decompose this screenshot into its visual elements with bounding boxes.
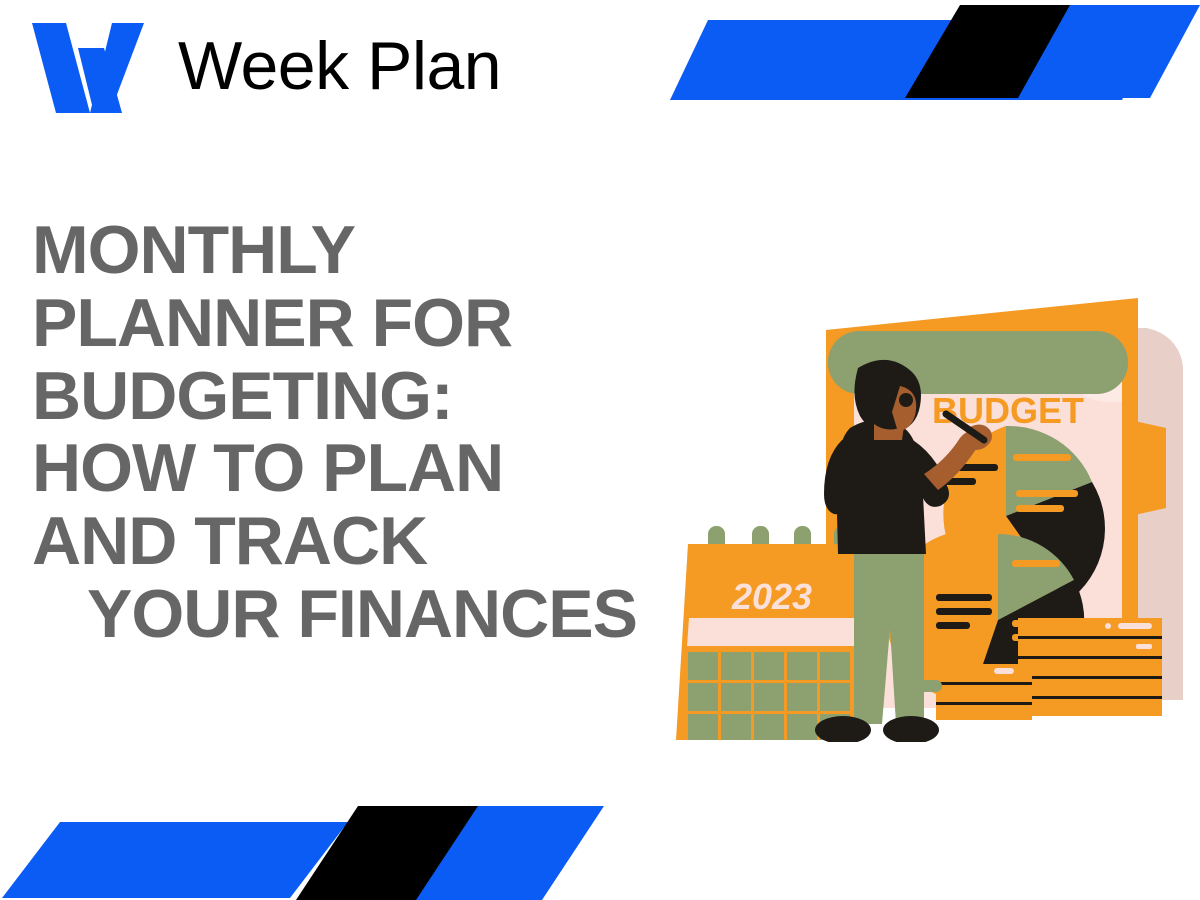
pie-label-line [1013,454,1071,461]
headline-line-3: BUDGETING: [32,360,692,433]
headline-line-4: HOW TO PLAN [32,432,692,505]
pie-label-line [1012,560,1060,567]
pie-label-line [936,594,992,601]
budget-planning-illustration: BUDGET [668,268,1192,742]
brand-logo[interactable]: Week Plan [28,18,501,113]
pie-label-line [936,622,970,629]
cover-canvas: Week Plan MONTHLY PLANNER FOR BUDGETING:… [0,0,1200,900]
pie-label-line [936,608,992,615]
headline-line-2: PLANNER FOR [32,287,692,360]
brand-name: Week Plan [178,32,501,100]
poster-title: BUDGET [932,390,1084,431]
pie-label-line [1016,490,1078,497]
illustration-svg: BUDGET [668,268,1192,742]
headline-line-1: MONTHLY [32,214,692,287]
headline-line-5: AND TRACK [32,505,692,578]
pie-label-line [1016,505,1064,512]
person-shoe [883,716,939,742]
page-title: MONTHLY PLANNER FOR BUDGETING: HOW TO PL… [32,214,692,651]
calendar-year-label: 2023 [731,576,812,617]
desk-calendar: 2023 [676,526,858,740]
decorative-banner-bottom [0,780,620,900]
headline-line-6: YOUR FINANCES [32,578,692,651]
decorative-banner-top [630,0,1200,120]
week-plan-w-logo-icon [28,18,148,113]
